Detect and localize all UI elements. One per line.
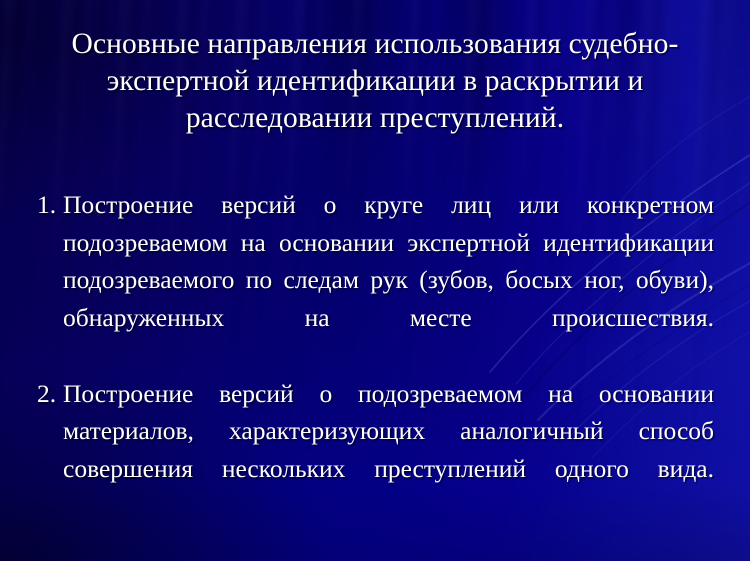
list-item-marker: 1.	[37, 186, 63, 224]
list-item: 2.Построение версий о подозреваемом на о…	[30, 375, 714, 525]
slide-body-list: 1.Построение версий о круге лиц или конк…	[30, 186, 714, 525]
list-item-text: Построение версий о подозреваемом на осн…	[63, 379, 714, 521]
presentation-slide: Основные направления использования судеб…	[0, 0, 750, 561]
list-item-text: Построение версий о круге лиц или конкре…	[63, 190, 714, 369]
list-item-marker: 2.	[37, 375, 63, 413]
slide-title: Основные направления использования судеб…	[38, 26, 712, 137]
list-item: 1.Построение версий о круге лиц или конк…	[30, 186, 714, 374]
slide-content: Основные направления использования судеб…	[0, 0, 750, 561]
